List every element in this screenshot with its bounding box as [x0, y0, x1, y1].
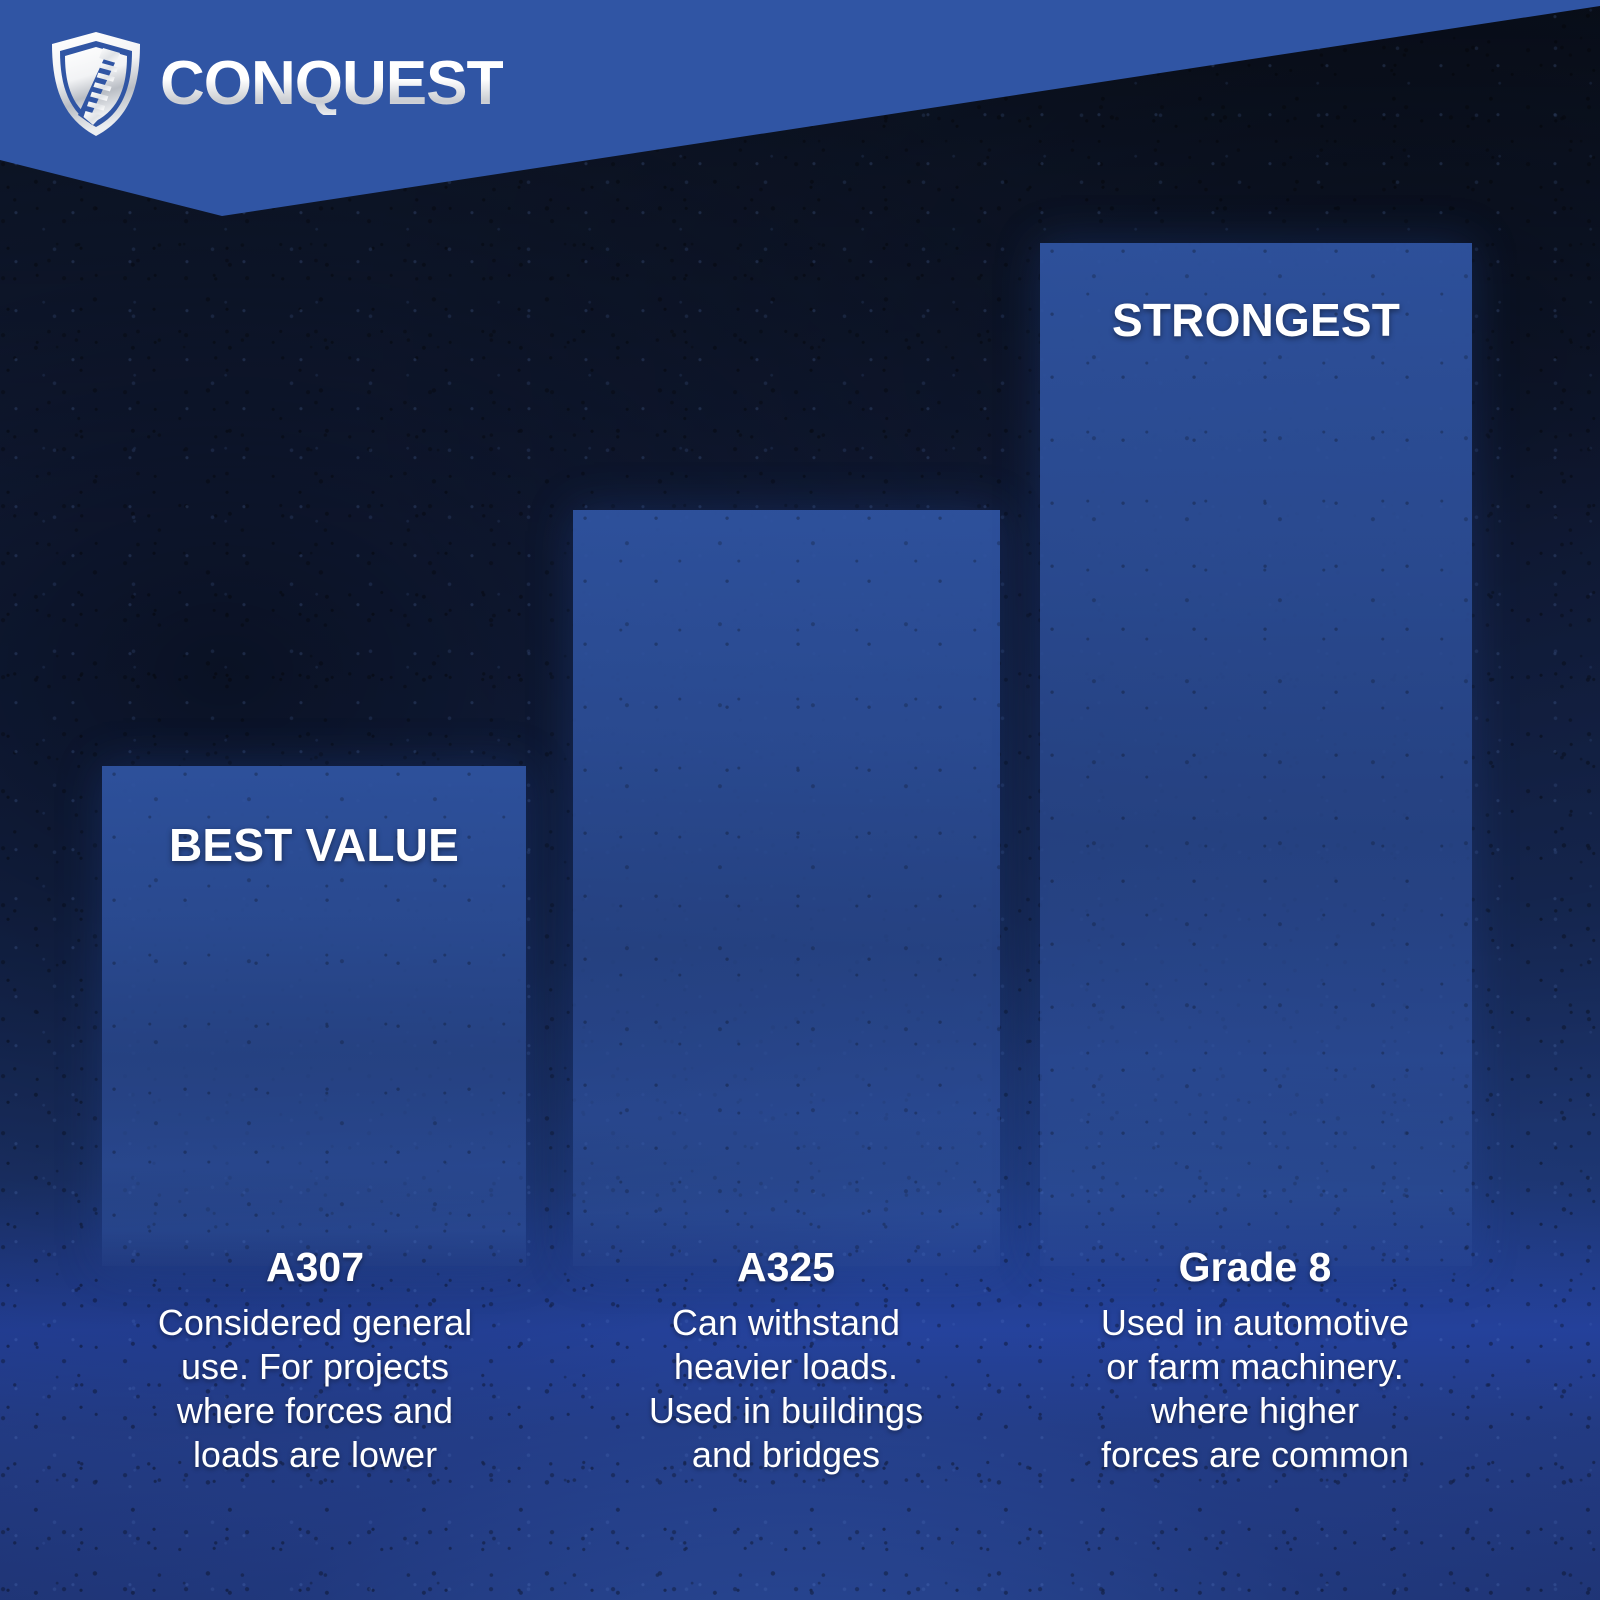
bar-a325	[573, 510, 1000, 1266]
caption-a325: A325 Can withstand heavier loads. Used i…	[563, 1246, 1009, 1477]
caption-line: Used in automotive	[1032, 1301, 1478, 1345]
bar-badge-strongest: STRONGEST	[1040, 293, 1472, 347]
caption-line: Considered general	[92, 1301, 538, 1345]
caption-title-a325: A325	[563, 1246, 1009, 1289]
caption-grade8: Grade 8 Used in automotive or farm machi…	[1032, 1246, 1478, 1477]
bar-badge-best-value: BEST VALUE	[102, 818, 526, 872]
caption-line: where forces and	[92, 1389, 538, 1433]
brand-wordmark: CONQUEST	[160, 53, 503, 115]
infographic-canvas: BEST VALUE STRONGEST A307 Considered gen…	[0, 0, 1600, 1600]
caption-title-a307: A307	[92, 1246, 538, 1289]
caption-line: forces are common	[1032, 1433, 1478, 1477]
caption-desc-grade8: Used in automotive or farm machinery. wh…	[1032, 1301, 1478, 1477]
caption-line: where higher	[1032, 1389, 1478, 1433]
caption-line: use. For projects	[92, 1345, 538, 1389]
caption-line: Can withstand	[563, 1301, 1009, 1345]
caption-desc-a307: Considered general use. For projects whe…	[92, 1301, 538, 1477]
brand-logo: CONQUEST	[48, 30, 503, 138]
caption-line: Used in buildings	[563, 1389, 1009, 1433]
shield-bolt-icon	[48, 30, 144, 138]
caption-line: and bridges	[563, 1433, 1009, 1477]
caption-line: heavier loads.	[563, 1345, 1009, 1389]
caption-line: loads are lower	[92, 1433, 538, 1477]
caption-desc-a325: Can withstand heavier loads. Used in bui…	[563, 1301, 1009, 1477]
caption-title-grade8: Grade 8	[1032, 1246, 1478, 1289]
bar-grade8	[1040, 243, 1472, 1266]
caption-a307: A307 Considered general use. For project…	[92, 1246, 538, 1477]
caption-line: or farm machinery.	[1032, 1345, 1478, 1389]
